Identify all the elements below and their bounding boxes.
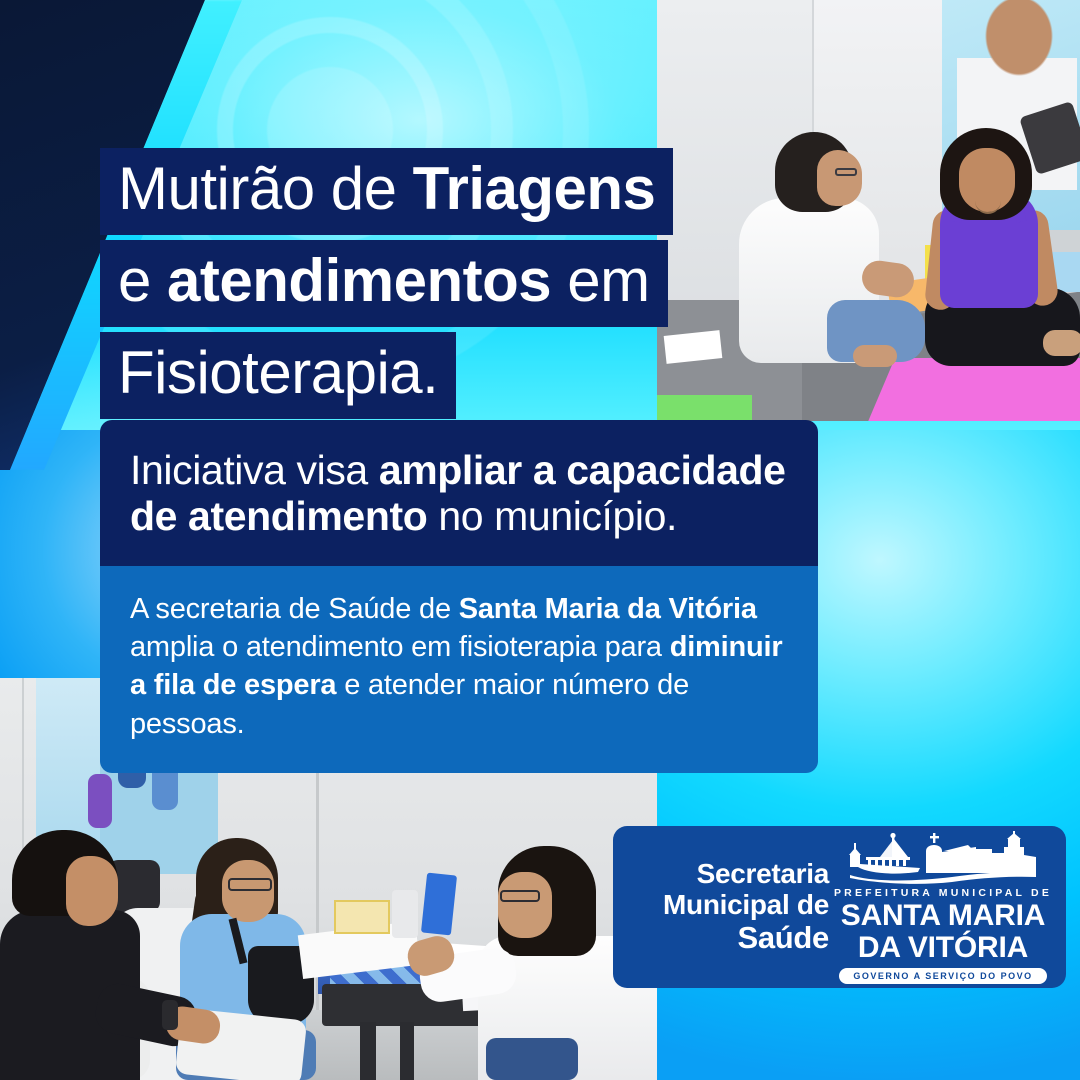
photo-physiotherapy-session: [657, 0, 1080, 421]
city-name-line-1: SANTA MARIA: [841, 901, 1045, 931]
secretaria-line-1: Secretaria: [639, 859, 829, 890]
content-card: Iniciativa visa ampliar a capacidade de …: [100, 420, 818, 773]
secretaria-line-2: Municipal de: [639, 890, 829, 921]
body-part1: A secretaria de Saúde de: [130, 593, 459, 625]
city-skyline-icon: [848, 831, 1038, 885]
card-subheading-block: Iniciativa visa ampliar a capacidade de …: [100, 420, 818, 566]
headline-line-1-regular: Mutirão de: [118, 155, 413, 222]
headline-group: Mutirão de Triagens e atendimentos em Fi…: [100, 148, 673, 424]
headline-line-1: Mutirão de Triagens: [100, 148, 673, 235]
headline-line-3-text: Fisioterapia.: [118, 339, 438, 406]
subheading-part1: Iniciativa visa: [130, 447, 379, 493]
logo-bar: Secretaria Municipal de Saúde: [613, 826, 1066, 988]
headline-line-1-bold: Triagens: [413, 155, 656, 222]
body-text: A secretaria de Saúde de Santa Maria da …: [130, 590, 788, 743]
prefeitura-label: PREFEITURA MUNICIPAL DE: [834, 887, 1052, 899]
headline-line-2-bold: atendimentos: [167, 247, 551, 314]
headline-line-2: e atendimentos em: [100, 240, 668, 327]
card-body-block: A secretaria de Saúde de Santa Maria da …: [100, 566, 818, 773]
headline-line-2-suffix: em: [551, 247, 650, 314]
secretaria-line-3: Saúde: [639, 921, 829, 955]
prefeitura-logo: PREFEITURA MUNICIPAL DE SANTA MARIA DA V…: [845, 831, 1041, 984]
secretaria-wordmark: Secretaria Municipal de Saúde: [639, 859, 829, 955]
city-name-line-2: DA VITÓRIA: [858, 933, 1028, 963]
subheading-text: Iniciativa visa ampliar a capacidade de …: [130, 448, 788, 540]
headline-line-3: Fisioterapia.: [100, 332, 456, 419]
poster-canvas: Mutirão de Triagens e atendimentos em Fi…: [0, 0, 1080, 1080]
government-slogan: GOVERNO A SERVIÇO DO POVO: [839, 968, 1046, 984]
body-bold-city: Santa Maria da Vitória: [459, 593, 757, 625]
body-part2: amplia o atendimento em fisioterapia par…: [130, 631, 670, 663]
headline-line-2-prefix: e: [118, 247, 167, 314]
subheading-part2: no município.: [427, 493, 677, 539]
